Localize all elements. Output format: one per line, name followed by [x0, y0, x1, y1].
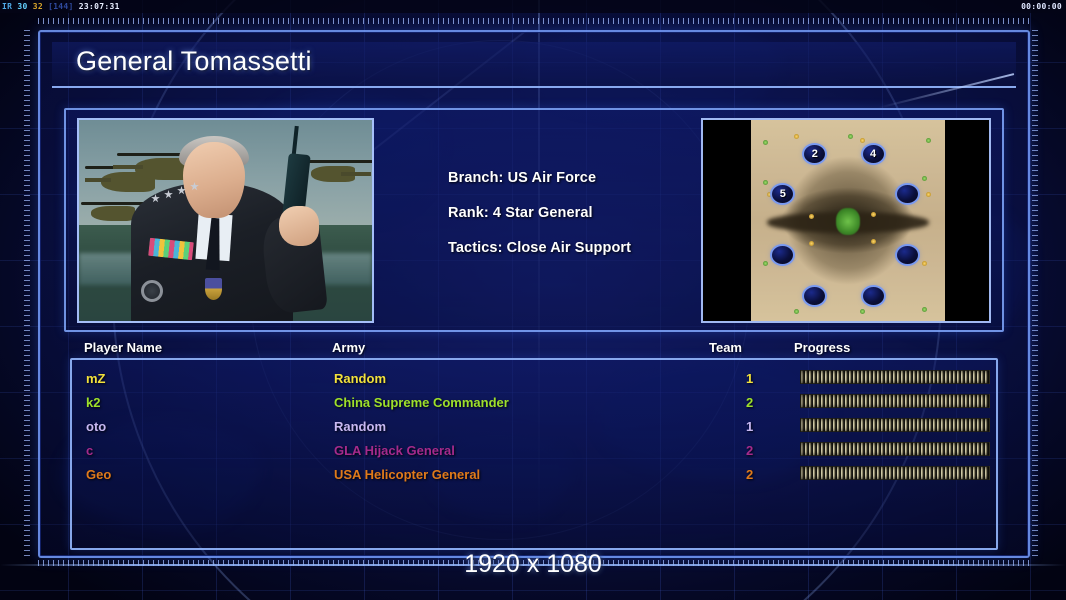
player-name: mZ [86, 371, 106, 386]
player-army: Random [334, 371, 386, 386]
general-hand [279, 206, 319, 246]
hud-bracket: [144] [48, 2, 74, 11]
player-progress-bar [800, 442, 990, 456]
table-row[interactable]: cGLA Hijack General2 [72, 438, 996, 462]
player-team: 1 [746, 419, 753, 434]
player-army: Random [334, 419, 386, 434]
map-start-position-7[interactable] [804, 287, 825, 305]
ruler-right [1032, 30, 1044, 558]
header-progress: Progress [794, 340, 850, 355]
hud-clock: 23:07:31 [79, 2, 120, 11]
player-army: GLA Hijack General [334, 443, 455, 458]
map-resource-icon [767, 192, 772, 197]
map-resource-icon [871, 239, 876, 244]
table-row[interactable]: GeoUSA Helicopter General2 [72, 462, 996, 486]
table-row[interactable]: mZRandom1 [72, 366, 996, 390]
helicopter-tail-icon [85, 178, 111, 182]
player-team: 1 [746, 371, 753, 386]
map-resource-icon [763, 140, 768, 145]
map-resource-icon [794, 309, 799, 314]
player-name: k2 [86, 395, 100, 410]
map-start-position-2[interactable]: 4 [863, 145, 884, 163]
page-title: General Tomassetti [76, 46, 312, 77]
general-tactics: Tactics: Close Air Support [448, 240, 631, 256]
title-bar: General Tomassetti [52, 42, 1016, 88]
map-resource-icon [860, 309, 865, 314]
player-team: 2 [746, 443, 753, 458]
general-rank: Rank: 4 Star General [448, 205, 631, 221]
ruler-left [24, 30, 36, 558]
player-progress-bar [800, 394, 990, 408]
helicopter-tail-icon [113, 165, 143, 169]
player-progress-bar [800, 466, 990, 480]
map-resource-icon [926, 192, 931, 197]
map-resource-icon [794, 134, 799, 139]
insignia-badge-icon [141, 280, 163, 302]
map-resource-icon [809, 241, 814, 246]
header-army: Army [332, 340, 365, 355]
hud-timer: 00:00:00 [1021, 0, 1062, 13]
map-start-position-1[interactable]: 2 [804, 145, 825, 163]
medal-icon [205, 278, 222, 300]
resolution-label: 1920 x 1080 [0, 550, 1066, 579]
hud-left-group: IR 30 32 [144] 23:07:31 [2, 0, 120, 13]
map-start-position-label: 4 [870, 148, 876, 160]
helicopter-icon [91, 206, 135, 221]
map-resource-icon [763, 261, 768, 266]
map-preview[interactable]: 245 [701, 118, 991, 323]
map-resource-icon [860, 138, 865, 143]
player-team: 2 [746, 395, 753, 410]
player-name: c [86, 443, 93, 458]
hud-ir-label: IR [2, 2, 12, 11]
map-center-oil-derrick [836, 208, 859, 234]
player-progress-bar [800, 370, 990, 384]
hud-value-1: 30 [17, 2, 27, 11]
general-portrait [77, 118, 374, 323]
player-table: mZRandom1k2China Supreme Commander2otoRa… [70, 358, 998, 550]
helicopter-tail-icon [341, 172, 371, 176]
hud-value-2: 32 [33, 2, 43, 11]
map-start-position-3[interactable]: 5 [772, 185, 793, 203]
header-team: Team [709, 340, 742, 355]
map-start-position-8[interactable] [863, 287, 884, 305]
map-resource-icon [848, 134, 853, 139]
map-start-position-6[interactable] [897, 246, 918, 264]
player-army: USA Helicopter General [334, 467, 480, 482]
player-name: oto [86, 419, 106, 434]
player-army: China Supreme Commander [334, 395, 509, 410]
general-face [183, 142, 245, 218]
general-info-panel: Branch: US Air Force Rank: 4 Star Genera… [64, 108, 1004, 332]
map-resource-icon [926, 138, 931, 143]
header-player-name: Player Name [84, 340, 162, 355]
map-resource-icon [763, 180, 768, 185]
hud-status-bar: IR 30 32 [144] 23:07:31 00:00:00 [0, 0, 1066, 13]
map-start-position-5[interactable] [772, 246, 793, 264]
map-start-position-label: 2 [812, 148, 818, 160]
table-row[interactable]: k2China Supreme Commander2 [72, 390, 996, 414]
ruler-top [38, 18, 1030, 30]
map-start-position-label: 5 [780, 188, 786, 200]
player-table-header: Player Name Army Team Progress [64, 340, 1004, 358]
player-name: Geo [86, 467, 111, 482]
map-resource-icon [922, 307, 927, 312]
map-resource-icon [922, 176, 927, 181]
map-terrain: 245 [751, 120, 945, 321]
map-start-position-4[interactable] [897, 185, 918, 203]
general-branch: Branch: US Air Force [448, 170, 631, 186]
game-lobby-screen: IR 30 32 [144] 23:07:31 00:00:00 General… [0, 0, 1066, 600]
table-row[interactable]: otoRandom1 [72, 414, 996, 438]
general-info-text: Branch: US Air Force Rank: 4 Star Genera… [448, 170, 631, 275]
map-resource-icon [922, 261, 927, 266]
player-progress-bar [800, 418, 990, 432]
player-team: 2 [746, 467, 753, 482]
